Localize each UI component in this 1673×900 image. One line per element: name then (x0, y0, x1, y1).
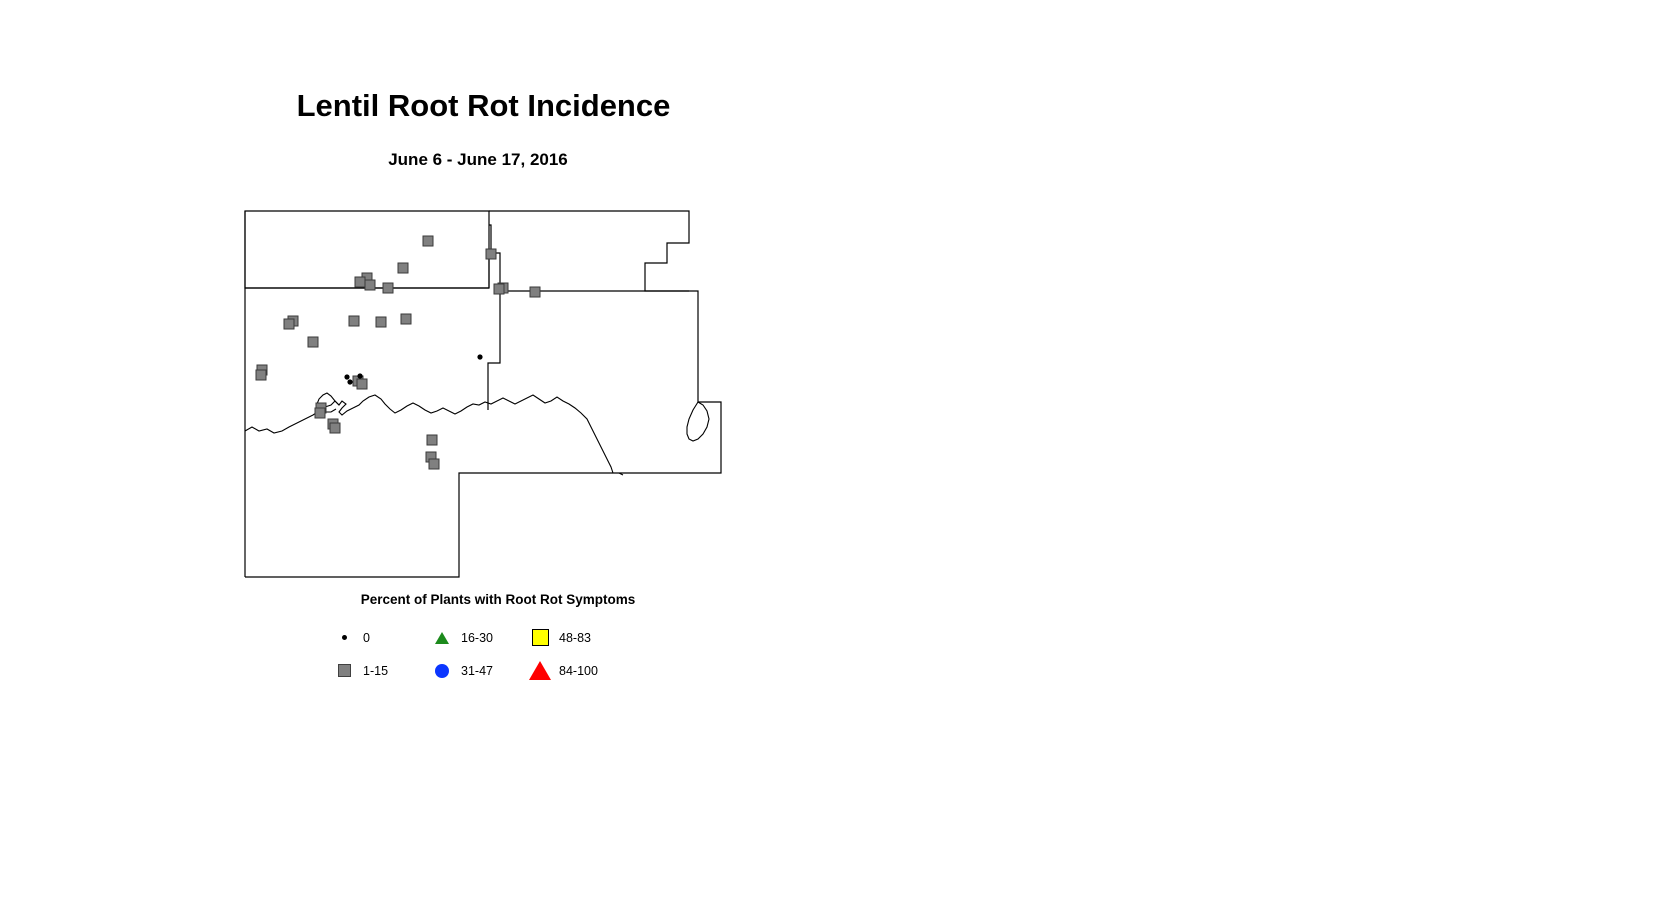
map-marker-zero (357, 373, 362, 378)
legend-item-1-15: 1-15 (333, 660, 431, 682)
page-title: Lentil Root Rot Incidence (0, 88, 967, 124)
gray-square-icon (333, 660, 355, 682)
blue-circle-icon (431, 660, 453, 682)
legend-label: 16-30 (461, 631, 493, 645)
page-subtitle: June 6 - June 17, 2016 (0, 150, 956, 170)
map-marker (486, 249, 496, 259)
map-marker (284, 319, 294, 329)
green-triangle-icon (431, 627, 453, 649)
map-figure: Lentil Root Rot Incidence June 6 - June … (0, 0, 1673, 900)
red-triangle-icon (529, 660, 551, 682)
map-marker (427, 435, 437, 445)
map-marker-zero (344, 374, 349, 379)
legend-label: 31-47 (461, 664, 493, 678)
map-marker (376, 317, 386, 327)
legend-label: 1-15 (363, 664, 388, 678)
map-marker (330, 423, 340, 433)
legend-title: Percent of Plants with Root Rot Symptoms (333, 592, 663, 607)
map-panel (243, 205, 733, 590)
legend: Percent of Plants with Root Rot Symptoms… (333, 592, 663, 687)
map-marker-zero (347, 379, 352, 384)
legend-item-31-47: 31-47 (431, 660, 529, 682)
yellow-square-icon (529, 627, 551, 649)
small-dot-icon (333, 627, 355, 649)
legend-label: 84-100 (559, 664, 598, 678)
map-marker (357, 379, 367, 389)
map-marker (494, 284, 504, 294)
map-marker (256, 370, 266, 380)
map-marker (349, 316, 359, 326)
map-marker (398, 263, 408, 273)
map-marker (355, 277, 365, 287)
legend-item-16-30: 16-30 (431, 627, 529, 649)
map-marker-zero (477, 354, 482, 359)
legend-item-48-83: 48-83 (529, 627, 627, 649)
map-marker (365, 280, 375, 290)
legend-label: 48-83 (559, 631, 591, 645)
legend-grid: 0 16-30 48-83 1-15 31-47 84-100 (333, 621, 663, 687)
map-marker (401, 314, 411, 324)
river-boundary (245, 393, 709, 475)
marker-layer (256, 236, 540, 469)
legend-label: 0 (363, 631, 370, 645)
map-marker (383, 283, 393, 293)
map-marker (308, 337, 318, 347)
map-marker (423, 236, 433, 246)
legend-item-0: 0 (333, 627, 431, 649)
map-marker (429, 459, 439, 469)
county-boundaries (245, 211, 721, 577)
map-marker (530, 287, 540, 297)
legend-item-84-100: 84-100 (529, 660, 627, 682)
map-marker (315, 408, 325, 418)
